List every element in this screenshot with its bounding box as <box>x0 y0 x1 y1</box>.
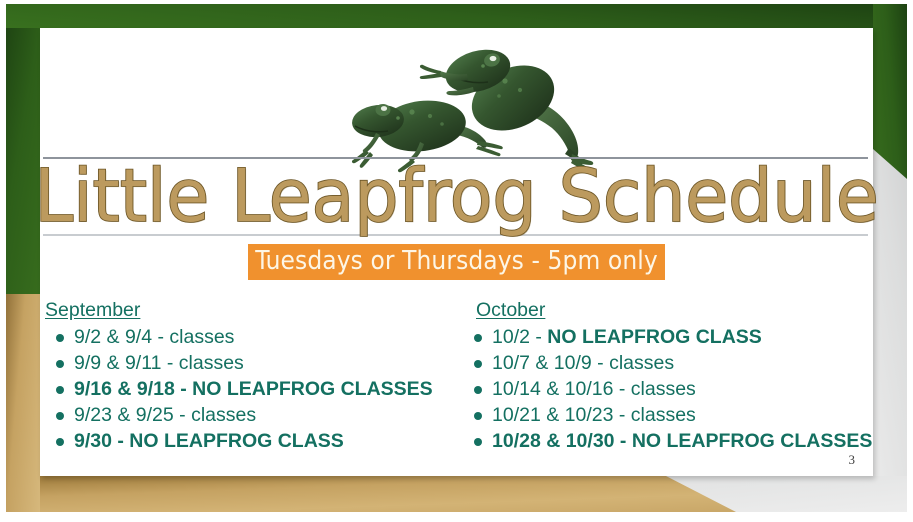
list-item-text: 10/28 & 10/30 - NO LEAPFROG CLASSES <box>492 430 872 452</box>
bullet-icon <box>474 438 482 446</box>
bullet-icon <box>56 334 64 342</box>
list-item-text: 10/21 & 10/23 - classes <box>492 404 696 426</box>
column-september: September 9/2 & 9/4 - classes 9/9 & 9/11… <box>40 298 470 454</box>
left-border-gold <box>6 262 40 512</box>
slide-title: Little Leapfrog Schedule <box>15 156 898 238</box>
bullet-icon <box>56 360 64 368</box>
list-item-text: 10/14 & 10/16 - classes <box>492 378 696 400</box>
schedule-columns: September 9/2 & 9/4 - classes 9/9 & 9/11… <box>40 298 873 468</box>
column-october: October 10/2 - NO LEAPFROG CLASS 10/7 & … <box>470 298 873 454</box>
slide-frame: Little Leapfrog Schedule Tuesdays or Thu… <box>6 4 907 512</box>
month-heading-october: October <box>470 298 873 322</box>
list-item-text: 10/7 & 10/9 - classes <box>492 352 674 374</box>
page-number: 3 <box>849 452 856 468</box>
bullet-icon <box>474 412 482 420</box>
list-item: 9/30 - NO LEAPFROG CLASS <box>40 428 470 454</box>
top-border-green <box>6 4 907 28</box>
right-border-green <box>873 4 907 179</box>
bullet-icon <box>56 438 64 446</box>
bullet-icon <box>474 334 482 342</box>
bullet-icon <box>56 412 64 420</box>
list-item: 10/7 & 10/9 - classes <box>470 350 873 376</box>
schedule-list-october: 10/2 - NO LEAPFROG CLASS 10/7 & 10/9 - c… <box>470 324 873 454</box>
list-item-text: 9/23 & 9/25 - classes <box>74 404 256 426</box>
list-item-text: 9/30 - NO LEAPFROG CLASS <box>74 430 344 452</box>
bullet-icon <box>474 360 482 368</box>
presentation-slide: Little Leapfrog Schedule Tuesdays or Thu… <box>0 0 913 522</box>
list-item: 10/28 & 10/30 - NO LEAPFROG CLASSES <box>470 428 873 454</box>
list-item: 10/14 & 10/16 - classes <box>470 376 873 402</box>
list-item: 9/16 & 9/18 - NO LEAPFROG CLASSES <box>40 376 470 402</box>
month-heading-september: September <box>40 298 470 322</box>
list-item-text: 9/16 & 9/18 - NO LEAPFROG CLASSES <box>74 378 433 400</box>
list-item: 9/9 & 9/11 - classes <box>40 350 470 376</box>
subtitle-banner: Tuesdays or Thursdays - 5pm only <box>40 244 873 280</box>
list-item: 9/2 & 9/4 - classes <box>40 324 470 350</box>
bottom-border-gold <box>6 476 746 512</box>
list-item: 9/23 & 9/25 - classes <box>40 402 470 428</box>
list-item-text: 9/9 & 9/11 - classes <box>74 352 244 374</box>
list-item: 10/2 - NO LEAPFROG CLASS <box>470 324 873 350</box>
left-border-green <box>6 4 40 294</box>
schedule-list-september: 9/2 & 9/4 - classes 9/9 & 9/11 - classes… <box>40 324 470 454</box>
list-item-text: 10/2 - NO LEAPFROG CLASS <box>492 326 762 348</box>
list-item-text: 9/2 & 9/4 - classes <box>74 326 234 348</box>
list-item: 10/21 & 10/23 - classes <box>470 402 873 428</box>
bullet-icon <box>474 386 482 394</box>
subtitle-text: Tuesdays or Thursdays - 5pm only <box>248 244 665 280</box>
bullet-icon <box>56 386 64 394</box>
slide-content-sheet: Little Leapfrog Schedule Tuesdays or Thu… <box>40 28 873 476</box>
